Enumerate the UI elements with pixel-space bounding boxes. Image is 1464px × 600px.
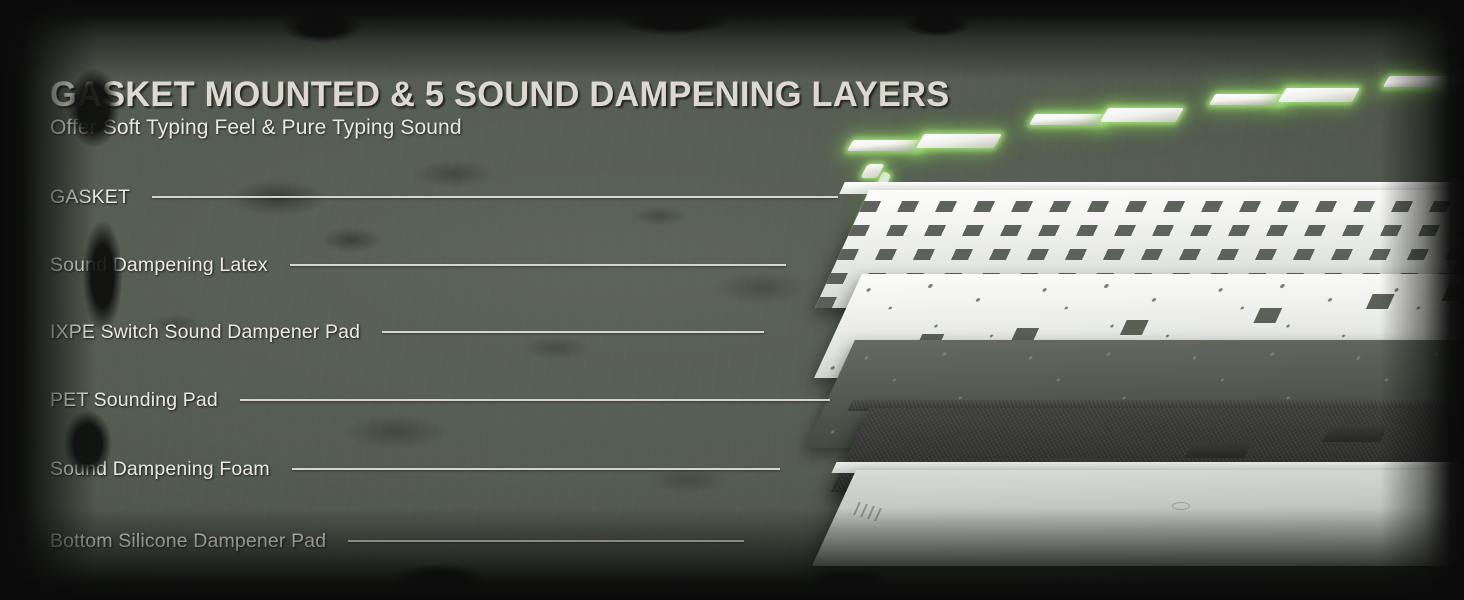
- frame-distressed-edge: [0, 0, 1464, 600]
- infographic-banner: GASKET MOUNTED & 5 SOUND DAMPENING LAYER…: [0, 0, 1464, 600]
